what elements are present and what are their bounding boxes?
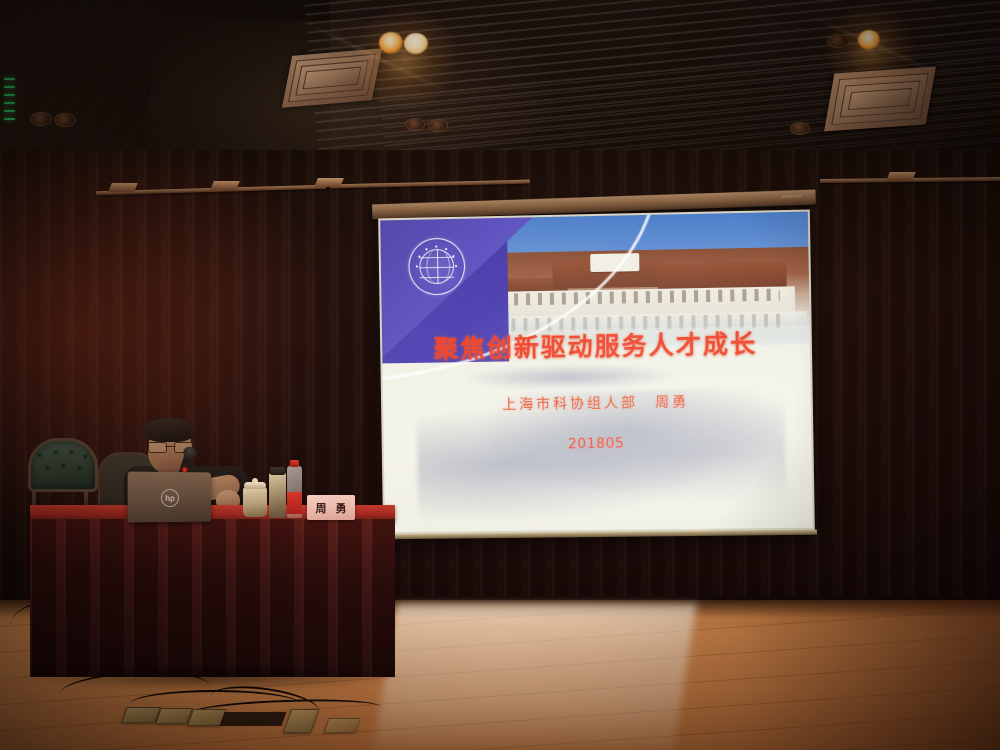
bottle-cap <box>290 460 299 467</box>
spotlight-left-a-icon <box>379 32 403 54</box>
slide-presenter-line: 上海市科协组人部 周勇 <box>383 390 811 416</box>
slide-text-block: 聚焦创新驱动服务人才成长 上海市科协组人部 周勇 201805 <box>380 212 813 533</box>
floor-light-patch <box>373 604 696 750</box>
hvac-diffuser-right-icon <box>824 67 936 132</box>
laptop[interactable]: hp <box>128 472 211 523</box>
table-skirt-pleats <box>30 519 395 677</box>
name-card-char-1: 周 <box>316 500 327 516</box>
bottle-label <box>287 492 302 514</box>
projection-screen[interactable]: projector <box>378 210 815 535</box>
slide-surface: 聚焦创新驱动服务人才成长 上海市科协组人部 周勇 201805 <box>378 210 815 535</box>
downlight-dim-6-icon <box>54 113 76 127</box>
hvac-diffuser-left-icon <box>282 48 382 107</box>
auditorium-photo: projector <box>0 0 1000 750</box>
floor-outlet-cover-1 <box>121 707 161 723</box>
downlight-dim-1-icon <box>405 118 425 131</box>
wall-led-indicators <box>4 78 18 138</box>
spotlight-left-b-icon <box>404 33 428 54</box>
tea-cup-knob <box>252 478 258 484</box>
screen-brand-label: projector <box>782 193 802 199</box>
presenter-table <box>30 505 395 680</box>
downlight-dim-4-icon <box>790 122 810 135</box>
table-shadow <box>22 664 402 690</box>
downlight-dim-2-icon <box>428 119 448 132</box>
downlight-dim-3-icon <box>827 34 849 48</box>
floor-outlet-cover-5 <box>323 718 360 733</box>
table-skirt <box>30 519 395 677</box>
curtain-rail-tab-4 <box>886 172 916 181</box>
curtain-rail-tab-1 <box>108 183 138 192</box>
hp-logo-icon: hp <box>161 489 179 507</box>
slide-title: 聚焦创新驱动服务人才成长 <box>382 324 810 367</box>
name-card-char-2: 勇 <box>336 500 347 516</box>
floor-box-open <box>219 712 286 726</box>
water-bottle <box>287 466 302 518</box>
tea-cup <box>243 487 267 517</box>
mic-head-icon <box>182 445 199 461</box>
thermos-cap <box>270 467 285 475</box>
slide-date: 201805 <box>384 433 812 455</box>
speaker-hair <box>144 418 194 442</box>
chair-tufting <box>32 446 88 512</box>
curtain-rail-tab-3 <box>314 178 344 187</box>
name-card: 周 勇 <box>307 495 355 520</box>
curtain-rail-tab-2 <box>210 181 240 190</box>
floor-right-shadow <box>740 600 1000 750</box>
thermos <box>269 473 286 518</box>
downlight-dim-5-icon <box>30 112 52 126</box>
